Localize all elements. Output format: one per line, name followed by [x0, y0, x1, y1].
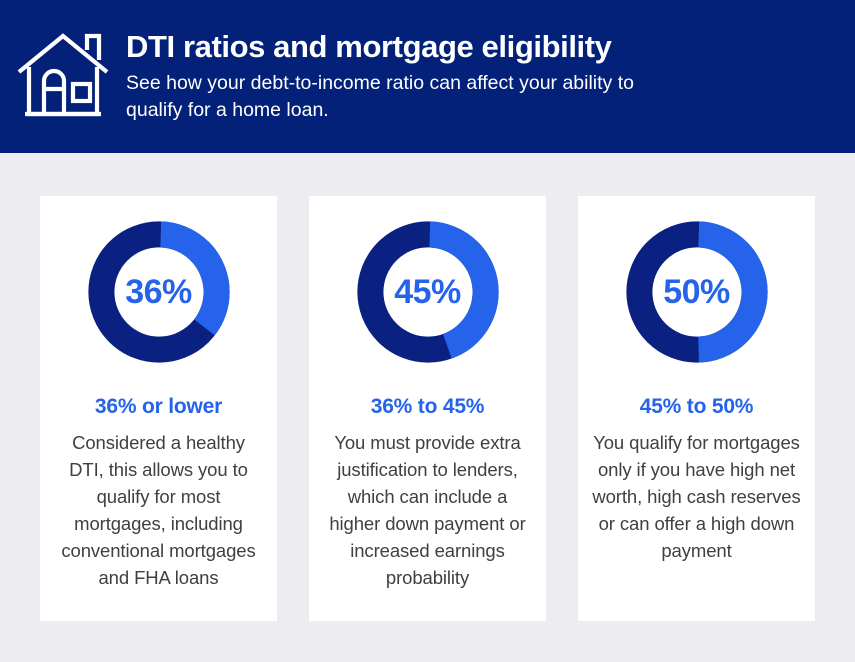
page-title: DTI ratios and mortgage eligibility [126, 29, 671, 65]
dti-cards-container: 36% 36% or lower Considered a healthy DT… [40, 196, 815, 621]
house-icon [15, 26, 111, 127]
dti-card-3: 50% 45% to 50% You qualify for mortgages… [578, 196, 815, 621]
card-heading-1: 36% or lower [95, 394, 222, 420]
donut-label-2: 45% [352, 216, 504, 368]
header-text-block: DTI ratios and mortgage eligibility See … [118, 29, 695, 124]
donut-chart-3: 50% [621, 216, 773, 368]
donut-label-3: 50% [621, 216, 773, 368]
dti-card-2: 45% 36% to 45% You must provide extra ju… [309, 196, 546, 621]
dti-card-1: 36% 36% or lower Considered a healthy DT… [40, 196, 277, 621]
card-body-3: You qualify for mortgages only if you ha… [592, 429, 801, 564]
card-heading-3: 45% to 50% [640, 394, 754, 420]
donut-label-1: 36% [83, 216, 235, 368]
card-heading-2: 36% to 45% [371, 394, 485, 420]
page-subtitle: See how your debt-to-income ratio can af… [126, 70, 671, 124]
card-body-1: Considered a healthy DTI, this allows yo… [54, 429, 263, 591]
page-header: DTI ratios and mortgage eligibility See … [0, 0, 855, 153]
donut-chart-2: 45% [352, 216, 504, 368]
card-body-2: You must provide extra justification to … [323, 429, 532, 591]
donut-chart-1: 36% [83, 216, 235, 368]
header-icon-container [0, 26, 118, 127]
